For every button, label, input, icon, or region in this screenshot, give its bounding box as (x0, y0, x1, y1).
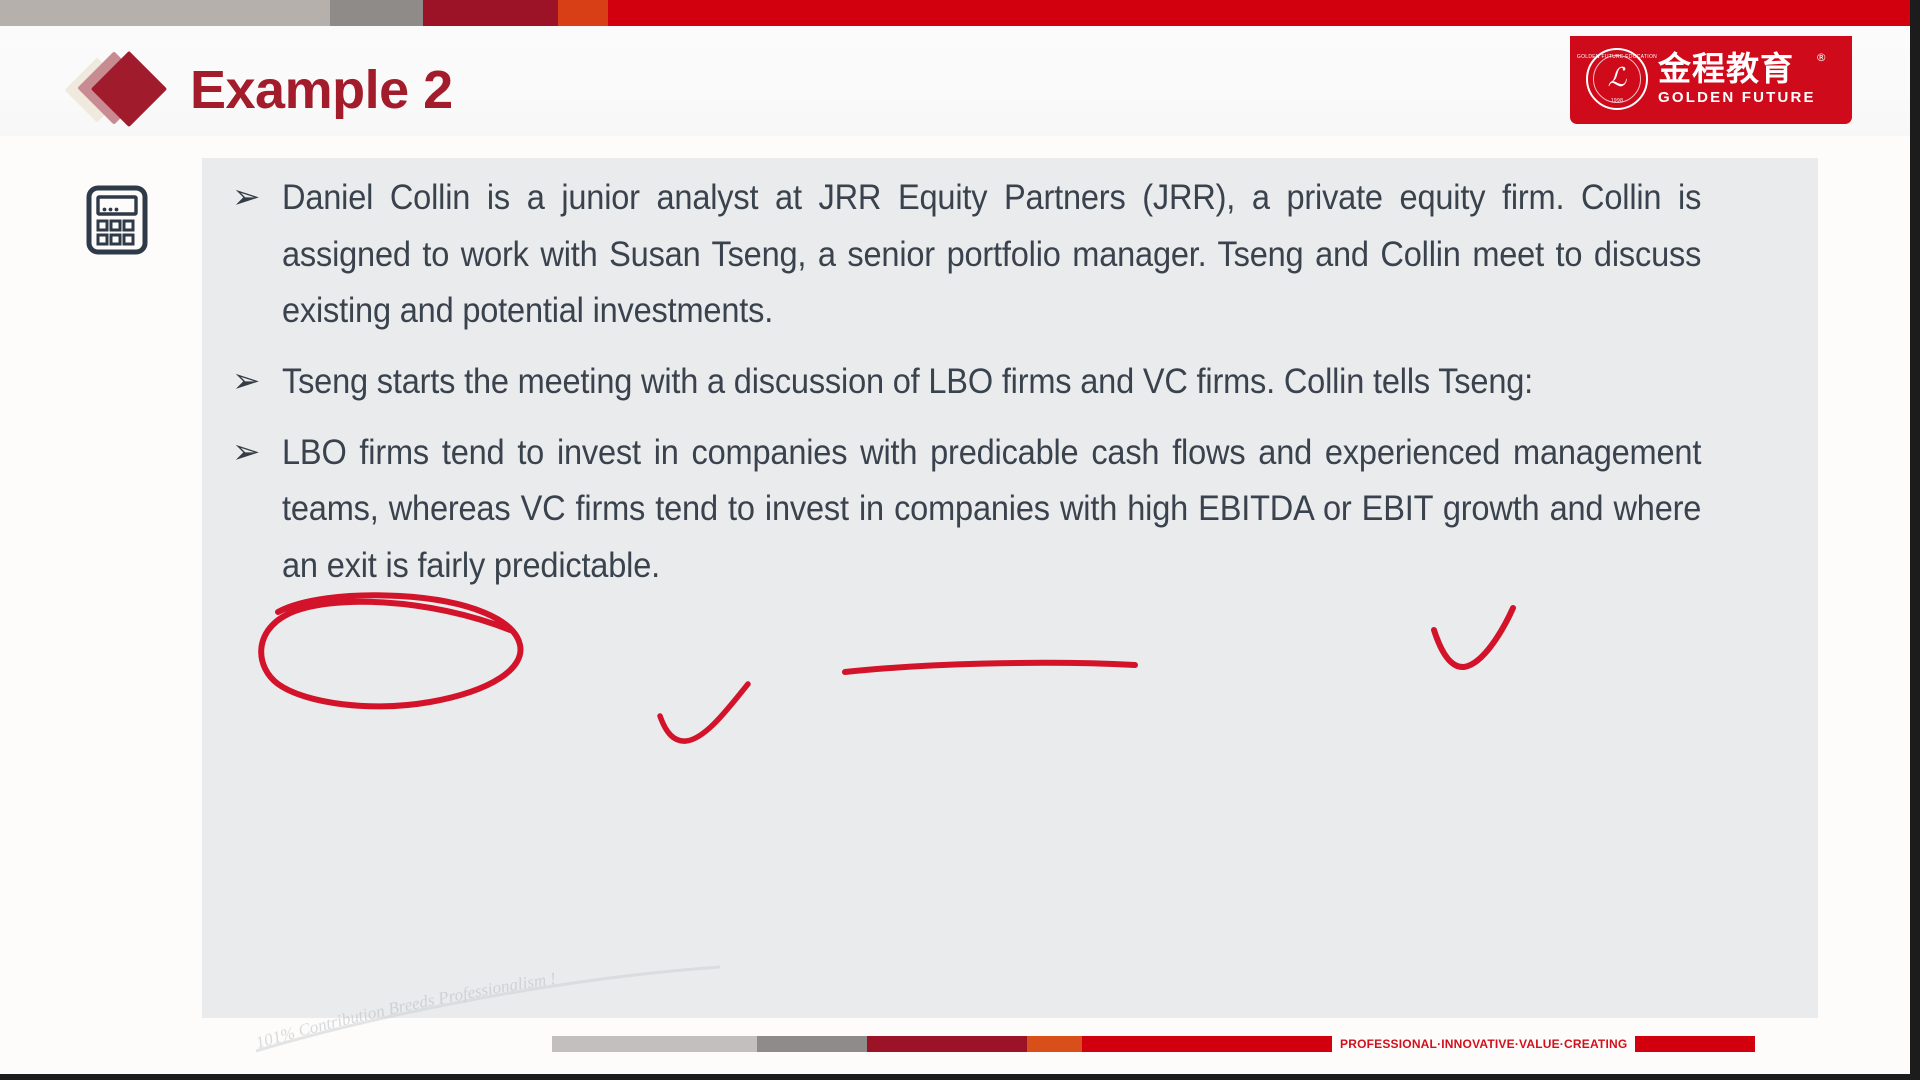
bottombar-segment-medium-gray (757, 1036, 867, 1052)
logo-seal-icon: GOLDEN FUTURE EDUCATION ℒ 1998 (1586, 48, 1648, 110)
layered-diamonds-icon (72, 50, 164, 130)
topbar-segment-medium-gray (330, 0, 423, 26)
bottombar-segment-dark-red (867, 1036, 1027, 1052)
svg-text:101% Contribution Breeds Profe: 101% Contribution Breeds Professionalism… (254, 969, 558, 1053)
logo-chinese-text: 金程教育 (1658, 49, 1794, 88)
list-item: ➢ LBO firms tend to invest in companies … (226, 425, 1808, 595)
slide-header: Example 2 GOLDEN FUTURE EDUCATION ℒ 1998… (0, 26, 1920, 136)
content-panel: ➢ Daniel Collin is a junior analyst at J… (202, 158, 1818, 1018)
bullet-list: ➢ Daniel Collin is a junior analyst at J… (226, 170, 1808, 609)
watermark-text: 101% Contribution Breeds Professionalism… (254, 969, 558, 1053)
topbar-segment-dark-red (423, 0, 558, 26)
slide-canvas: Example 2 GOLDEN FUTURE EDUCATION ℒ 1998… (0, 0, 1920, 1080)
bottombar-segment-light-gray (552, 1036, 757, 1052)
title-row: Example 2 (72, 50, 453, 130)
topbar-segment-light-gray (0, 0, 330, 26)
top-color-bar (0, 0, 1920, 26)
bullet-text-1: Daniel Collin is a junior analyst at JRR… (282, 170, 1701, 340)
footer-tagline: PROFESSIONAL·INNOVATIVE·VALUE·CREATING (1332, 1037, 1635, 1051)
page-title: Example 2 (190, 63, 453, 117)
logo-wordmark: 金程教育® GOLDEN FUTURE (1658, 52, 1816, 107)
topbar-segment-orange (558, 0, 608, 26)
seal-monogram: ℒ (1608, 65, 1627, 91)
seal-micro-top: GOLDEN FUTURE EDUCATION (1577, 54, 1657, 60)
player-frame-bottom-edge (0, 1074, 1920, 1080)
bottom-color-bar: PROFESSIONAL·INNOVATIVE·VALUE·CREATING (552, 1036, 1862, 1052)
player-frame-right-edge (1910, 0, 1920, 1080)
seal-micro-bottom: 1998 (1611, 98, 1623, 104)
registered-mark: ® (1816, 52, 1828, 64)
list-item: ➢ Tseng starts the meeting with a discus… (226, 354, 1808, 411)
bottombar-segment-tail-red (1635, 1036, 1755, 1052)
bullet-text-2: Tseng starts the meeting with a discussi… (282, 354, 1701, 411)
topbar-segment-bright-red (608, 0, 1920, 26)
brand-logo: GOLDEN FUTURE EDUCATION ℒ 1998 金程教育® GOL… (1570, 36, 1852, 124)
bullet-arrow-icon: ➢ (226, 354, 282, 409)
bullet-arrow-icon: ➢ (226, 170, 282, 225)
list-item: ➢ Daniel Collin is a junior analyst at J… (226, 170, 1808, 340)
bullet-arrow-icon: ➢ (226, 425, 282, 480)
bottombar-segment-bright-red (1082, 1036, 1332, 1052)
bottombar-segment-orange (1027, 1036, 1082, 1052)
logo-english-name: GOLDEN FUTURE (1658, 89, 1816, 106)
calculator-icon (86, 185, 148, 255)
bullet-text-3: LBO firms tend to invest in companies wi… (282, 425, 1701, 595)
logo-chinese-name: 金程教育® (1658, 52, 1816, 87)
